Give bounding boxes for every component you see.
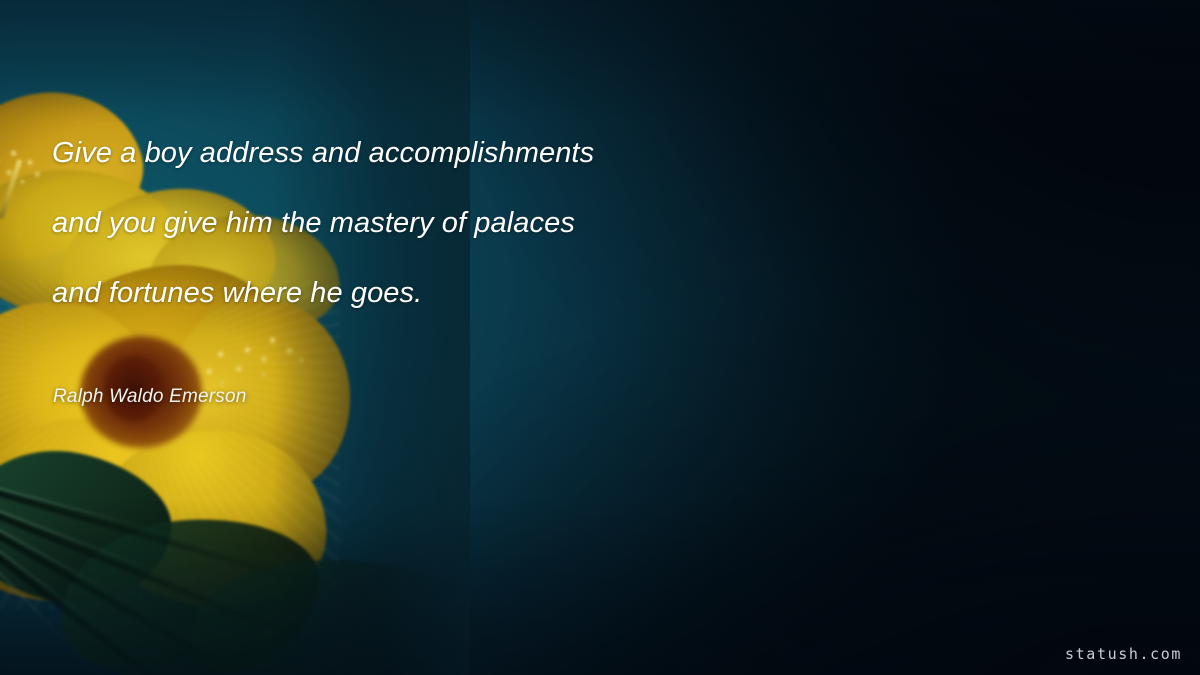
quote-card: Give a boy address and accomplishments a…: [0, 0, 1200, 675]
vignette-overlay: [0, 0, 1200, 675]
quote-author: Ralph Waldo Emerson: [53, 386, 247, 408]
quote-text: Give a boy address and accomplishments a…: [52, 118, 812, 328]
quote-line-3: and fortunes where he goes.: [52, 258, 812, 328]
site-watermark: statush.com: [1065, 645, 1182, 663]
quote-line-1: Give a boy address and accomplishments: [52, 118, 812, 188]
quote-line-2: and you give him the mastery of palaces: [52, 188, 812, 258]
